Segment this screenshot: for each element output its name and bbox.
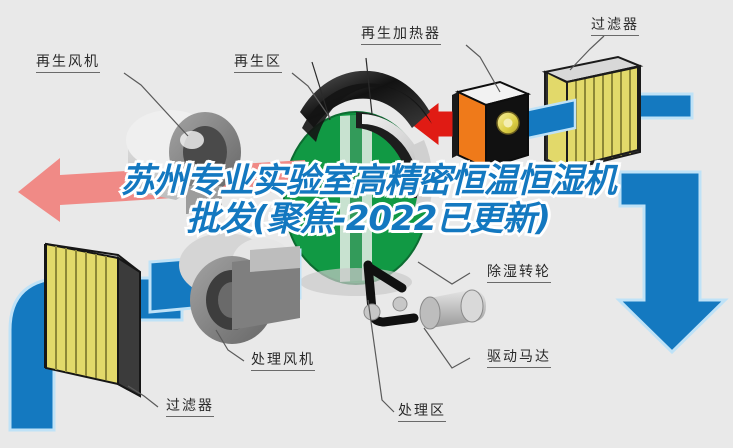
label-regen-zone: 再生区 <box>234 54 282 73</box>
label-regen-heater: 再生加热器 <box>361 26 441 45</box>
label-process-fan: 处理风机 <box>251 352 315 371</box>
diagram-canvas: 再生风机 再生区 再生加热器 过滤器 除湿转轮 驱动马达 处理风机 处理区 过滤… <box>0 0 733 448</box>
regen-heater-unit <box>452 82 528 168</box>
label-filter-top: 过滤器 <box>591 17 639 36</box>
label-drive-motor: 驱动马达 <box>487 349 551 368</box>
label-process-zone: 处理区 <box>398 403 446 422</box>
label-filter-bottom: 过滤器 <box>166 398 214 417</box>
schematic-artwork <box>0 0 733 448</box>
label-rotor: 除湿转轮 <box>487 264 551 283</box>
label-regen-fan: 再生风机 <box>36 54 100 73</box>
